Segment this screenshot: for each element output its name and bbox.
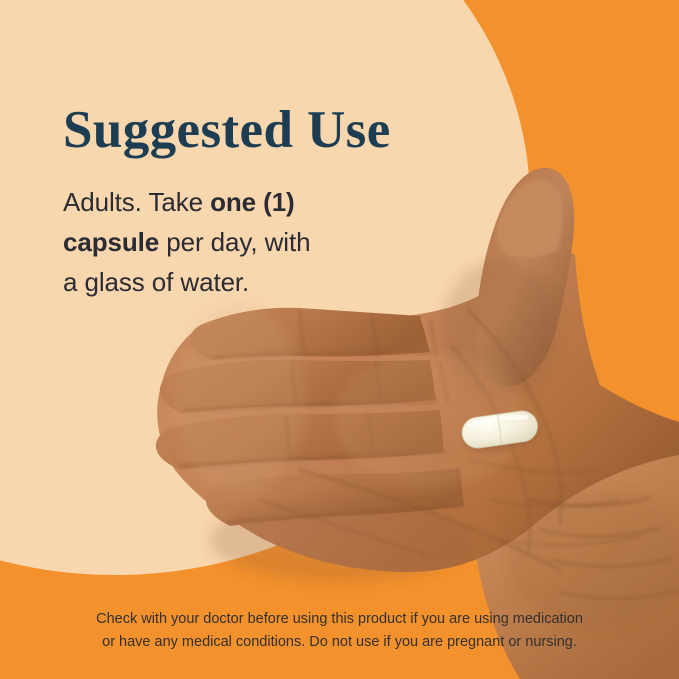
dosage-instructions: Adults. Take one (1) capsule per day, wi… xyxy=(63,182,443,302)
disclaimer: Check with your doctor before using this… xyxy=(0,608,679,654)
dosage-line-1-bold: one (1) xyxy=(210,187,295,217)
dosage-line-2-bold: capsule xyxy=(63,227,159,257)
copy-block: Suggested Use Adults. Take one (1) capsu… xyxy=(63,100,443,302)
product-suggested-use-panel: Suggested Use Adults. Take one (1) capsu… xyxy=(0,0,679,679)
page-title: Suggested Use xyxy=(63,100,443,160)
disclaimer-line-1: Check with your doctor before using this… xyxy=(60,608,619,631)
dosage-line-3: a glass of water. xyxy=(63,267,249,297)
dosage-line-1-lead: Adults. Take xyxy=(63,187,210,217)
dosage-line-2-rest: per day, with xyxy=(159,227,310,257)
disclaimer-line-2: or have any medical conditions. Do not u… xyxy=(60,631,619,654)
